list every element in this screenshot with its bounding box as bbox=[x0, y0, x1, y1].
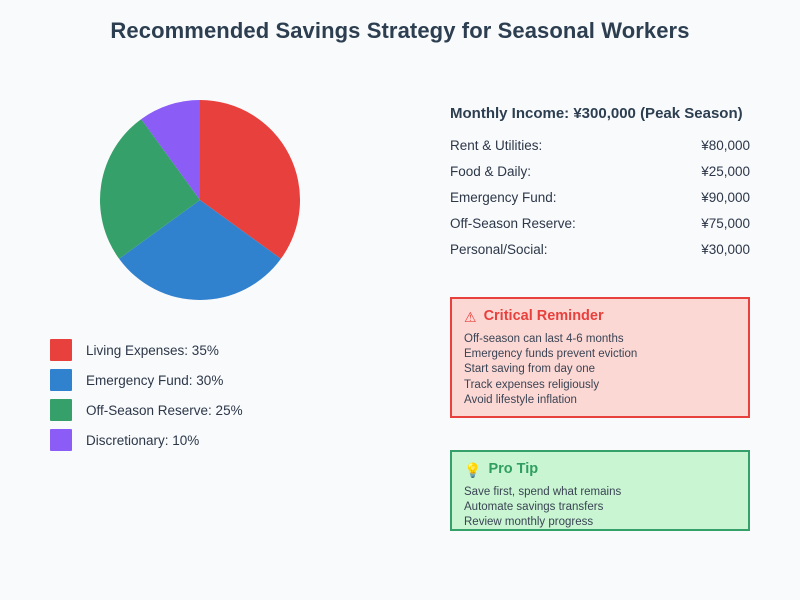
budget-row-label: Emergency Fund: bbox=[450, 190, 557, 205]
budget-row-label: Personal/Social: bbox=[450, 242, 548, 257]
budget-row-label: Off-Season Reserve: bbox=[450, 216, 576, 231]
legend-item-label: Off-Season Reserve: 25% bbox=[86, 403, 243, 418]
legend-color-swatch bbox=[50, 399, 72, 421]
critical-reminder-box: ⚠ Critical Reminder Off-season can last … bbox=[450, 297, 750, 418]
budget-row-label: Food & Daily: bbox=[450, 164, 531, 179]
budget-row: Emergency Fund:¥90,000 bbox=[450, 190, 750, 205]
critical-reminder-list: Off-season can last 4-6 monthsEmergency … bbox=[464, 332, 736, 408]
budget-row-value: ¥80,000 bbox=[701, 138, 750, 153]
pro-tip-box: 💡 Pro Tip Save first, spend what remains… bbox=[450, 450, 750, 531]
critical-reminder-heading: ⚠ Critical Reminder bbox=[464, 309, 736, 325]
pro-tip-list: Save first, spend what remainsAutomate s… bbox=[464, 485, 736, 531]
budget-row-value: ¥75,000 bbox=[701, 216, 750, 231]
critical-reminder-line: Track expenses religiously bbox=[464, 378, 736, 393]
critical-reminder-line: Start saving from day one bbox=[464, 362, 736, 377]
page-title: Recommended Savings Strategy for Seasona… bbox=[0, 18, 800, 44]
legend-item: Off-Season Reserve: 25% bbox=[50, 399, 390, 421]
pie-chart-container bbox=[100, 100, 300, 300]
budget-row-label: Rent & Utilities: bbox=[450, 138, 542, 153]
legend-item: Discretionary: 10% bbox=[50, 429, 390, 451]
budget-heading: Monthly Income: ¥300,000 (Peak Season) bbox=[450, 105, 750, 122]
pro-tip-line: Save first, spend what remains bbox=[464, 485, 736, 500]
chart-legend: Living Expenses: 35%Emergency Fund: 30%O… bbox=[50, 339, 390, 459]
budget-row-value: ¥90,000 bbox=[701, 190, 750, 205]
critical-reminder-line: Emergency funds prevent eviction bbox=[464, 347, 736, 362]
budget-row-value: ¥25,000 bbox=[701, 164, 750, 179]
legend-color-swatch bbox=[50, 339, 72, 361]
budget-panel: Monthly Income: ¥300,000 (Peak Season) R… bbox=[450, 105, 750, 268]
critical-reminder-line: Off-season can last 4-6 months bbox=[464, 332, 736, 347]
budget-row: Off-Season Reserve:¥75,000 bbox=[450, 216, 750, 231]
budget-row-list: Rent & Utilities:¥80,000Food & Daily:¥25… bbox=[450, 138, 750, 257]
legend-color-swatch bbox=[50, 429, 72, 451]
warning-triangle-icon: ⚠ bbox=[464, 310, 477, 324]
pro-tip-title: Pro Tip bbox=[488, 462, 538, 478]
pro-tip-line: Review monthly progress bbox=[464, 515, 736, 530]
critical-reminder-title: Critical Reminder bbox=[484, 309, 604, 325]
budget-row: Food & Daily:¥25,000 bbox=[450, 164, 750, 179]
pie-chart bbox=[100, 100, 300, 300]
legend-color-swatch bbox=[50, 369, 72, 391]
budget-row-value: ¥30,000 bbox=[701, 242, 750, 257]
pro-tip-line: Automate savings transfers bbox=[464, 500, 736, 515]
legend-item: Living Expenses: 35% bbox=[50, 339, 390, 361]
legend-item-label: Discretionary: 10% bbox=[86, 433, 199, 448]
critical-reminder-line: Avoid lifestyle inflation bbox=[464, 393, 736, 408]
budget-row: Rent & Utilities:¥80,000 bbox=[450, 138, 750, 153]
lightbulb-icon: 💡 bbox=[464, 463, 481, 477]
budget-row: Personal/Social:¥30,000 bbox=[450, 242, 750, 257]
pro-tip-heading: 💡 Pro Tip bbox=[464, 462, 736, 478]
legend-item-label: Emergency Fund: 30% bbox=[86, 373, 223, 388]
legend-item: Emergency Fund: 30% bbox=[50, 369, 390, 391]
legend-item-label: Living Expenses: 35% bbox=[86, 343, 219, 358]
